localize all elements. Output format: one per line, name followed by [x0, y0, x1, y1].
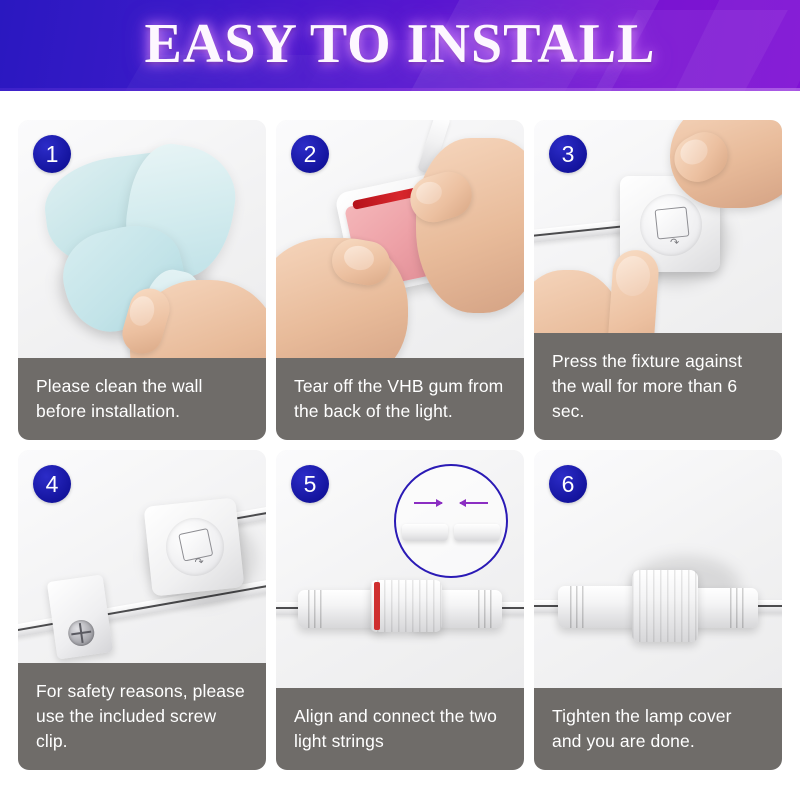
connector-grooves-left	[308, 590, 322, 628]
led-lens-icon	[655, 206, 690, 239]
rotate-arrow-icon: ↷	[670, 238, 679, 249]
step-number-badge-3: 3	[549, 135, 587, 173]
connector-red-indicator	[374, 582, 380, 630]
header-banner: EASY TO INSTALL	[0, 0, 800, 91]
step-panel-1: 1 Please clean the wall before installat…	[18, 120, 266, 440]
steps-grid: 1 Please clean the wall before installat…	[18, 120, 782, 770]
step-number-badge-6: 6	[549, 465, 587, 503]
connector-grooves-right	[730, 588, 746, 628]
connector-grooves-right	[478, 590, 492, 628]
step-panel-5: 5 Align and connect the two light string…	[276, 450, 524, 770]
lamp-cover-ridges	[632, 570, 698, 642]
right-hand	[416, 138, 524, 313]
infographic-page: EASY TO INSTALL 1 Please clean the wall …	[0, 0, 800, 800]
step-panel-6: 6 Tighten the lamp cover and you are don…	[534, 450, 782, 770]
connector-plug-left	[402, 524, 448, 541]
step-panel-4: ↷ 4 For safety reasons, please use the i…	[18, 450, 266, 770]
fixture-dial: ↷	[163, 515, 227, 579]
step-caption-2: Tear off the VHB gum from the back of th…	[276, 358, 524, 440]
clip-screw	[67, 618, 96, 647]
step-number-badge-5: 5	[291, 465, 329, 503]
step-caption-4: For safety reasons, please use the inclu…	[18, 663, 266, 770]
rotate-arrow-icon: ↷	[194, 557, 204, 569]
connector-plug-right	[454, 524, 500, 541]
step-caption-1: Please clean the wall before installatio…	[18, 358, 266, 440]
step-caption-5: Align and connect the two light strings	[276, 688, 524, 770]
lamp-cover-nut	[632, 570, 698, 642]
step-number-badge-4: 4	[33, 465, 71, 503]
arrow-right-icon	[414, 502, 442, 504]
fixture-dial: ↷	[640, 194, 702, 256]
screw-clip	[47, 574, 113, 659]
step-caption-3: Press the fixture against the wall for m…	[534, 333, 782, 440]
step-panel-3: ↷ 3 Press the fixture against the wall f…	[534, 120, 782, 440]
step-number-badge-1: 1	[33, 135, 71, 173]
page-title: EASY TO INSTALL	[0, 0, 800, 91]
header-underline	[0, 88, 800, 91]
step-number-badge-2: 2	[291, 135, 329, 173]
step-panel-2: 2 Tear off the VHB gum from the back of …	[276, 120, 524, 440]
connector-grooves-left	[570, 586, 586, 628]
connector-detail-inset	[394, 464, 508, 578]
step-caption-6: Tighten the lamp cover and you are done.	[534, 688, 782, 770]
arrow-left-icon	[460, 502, 488, 504]
connector-collar	[370, 580, 442, 632]
light-fixture: ↷	[144, 497, 245, 596]
connector-ridges	[370, 580, 442, 632]
